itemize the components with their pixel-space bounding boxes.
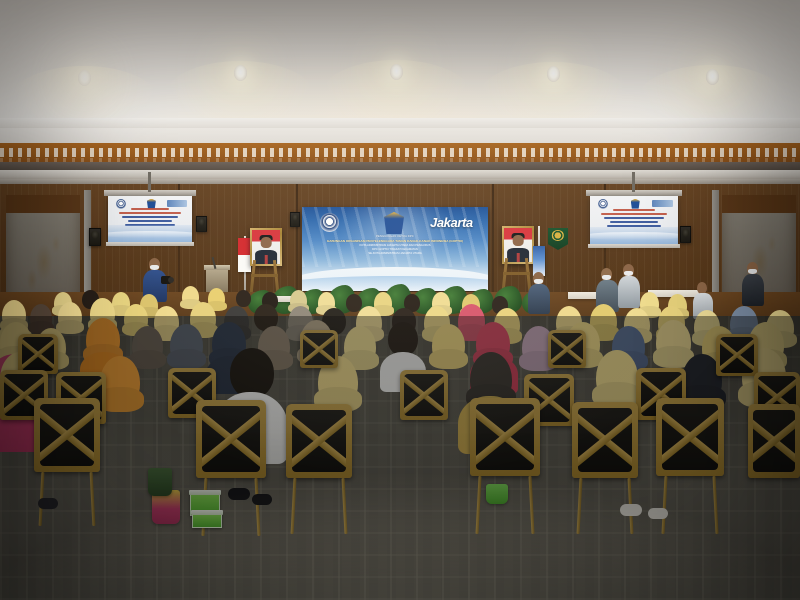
loudspeaker-center <box>290 212 300 227</box>
conference-hall-photo: Jakarta PENGUKUHAN KETUA DPC GABUNGAN OR… <box>0 0 800 600</box>
left-screen-bar <box>106 242 194 246</box>
banner-line-5: SE-KOTA ADMINISTRASI JAKARTA UTARA <box>312 252 478 256</box>
right-screen-bar <box>588 244 680 248</box>
upper-wall-band <box>0 128 800 144</box>
floor-vignette <box>0 316 800 600</box>
dki-jakarta-seal-icon <box>631 199 640 209</box>
downlight-icon <box>390 64 403 80</box>
dki-jakarta-seal-icon <box>384 212 404 234</box>
frieze-perforation <box>0 148 800 157</box>
screen-text-block <box>115 208 186 224</box>
right-projection-screen <box>590 196 678 244</box>
loudspeaker-right <box>680 226 691 243</box>
dki-jakarta-seal-icon <box>147 199 156 209</box>
loudspeaker-center-left <box>196 216 207 232</box>
podium-top <box>204 265 230 270</box>
loudspeaker-left <box>89 228 101 246</box>
portrait-face <box>513 235 524 245</box>
goptki-emblem-icon <box>116 199 126 209</box>
downlight-icon <box>234 65 247 81</box>
stage-backdrop-banner: Jakarta PENGUKUHAN KETUA DPC GABUNGAN OR… <box>302 207 488 291</box>
left-projection-screen <box>108 196 192 242</box>
downlight-icon <box>706 69 719 85</box>
goptki-emblem-icon <box>598 199 608 209</box>
downlight-icon <box>78 70 91 86</box>
banner-line-2: GABUNGAN ORGANISASI PENYELENGGARA TAMAN … <box>312 239 478 244</box>
screen-text-block <box>597 209 671 225</box>
downlight-icon <box>547 66 560 82</box>
jakarta-wordmark: Jakarta <box>430 214 478 232</box>
screen-logo-row <box>111 198 188 206</box>
screen-wave-graphic <box>590 227 678 244</box>
jakarta-wordmark-icon <box>167 200 187 207</box>
jakarta-wordmark-icon <box>652 200 673 207</box>
portrait-face <box>261 237 272 247</box>
screen-mount <box>148 172 151 192</box>
screen-mount <box>632 172 635 192</box>
goptki-emblem-icon <box>320 213 339 232</box>
banner-logo-row: Jakarta <box>302 212 488 234</box>
screen-wave-graphic <box>108 225 192 242</box>
screen-logo-row <box>594 198 675 207</box>
banner-text-block: PENGUKUHAN KETUA DPC GABUNGAN ORGANISASI… <box>312 235 478 256</box>
